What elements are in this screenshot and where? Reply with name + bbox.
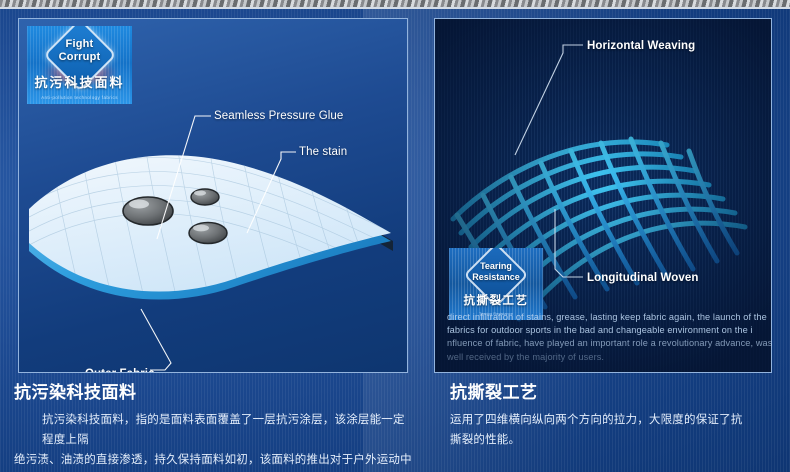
badge-english-subtitle: Anti-pollution technology fabrics xyxy=(27,95,132,100)
footer-right-line-1: 运用了四维横向纵向两个方向的拉力，大限度的保证了抗 xyxy=(450,410,780,430)
fight-corrupt-badge: Fight Corrupt 抗污科技面料 Anti-pollution tech… xyxy=(27,26,132,104)
badge2-line-2: Resistance xyxy=(449,272,543,283)
badge2-diamond-text: Tearing Resistance xyxy=(449,261,543,282)
badge-chinese-title: 抗污科技面料 xyxy=(27,72,132,91)
callout-the-stain: The stain xyxy=(299,145,347,159)
badge-line-1: Fight xyxy=(27,38,132,51)
english-description-paragraph: direct infiltration of stains, grease, l… xyxy=(447,311,783,364)
footer-left-line-1: 抗污染科技面料，指的是面料表面覆盖了一层抗污涂层，该涂层能一定程度上隔 xyxy=(14,410,414,450)
footer-right-line-2: 撕裂的性能。 xyxy=(450,430,780,450)
top-film-strip xyxy=(0,0,790,9)
english-line-3: nfluence of fabric, have played an impor… xyxy=(447,337,783,350)
english-line-1: direct infiltration of stains, grease, l… xyxy=(447,311,783,324)
callout-seamless-pressure-glue: Seamless Pressure Glue xyxy=(214,109,354,123)
footer-right-section: 抗撕裂工艺 运用了四维横向纵向两个方向的拉力，大限度的保证了抗 撕裂的性能。 xyxy=(450,378,780,450)
footer-left-title: 抗污染科技面料 xyxy=(14,378,414,403)
footer-right-title: 抗撕裂工艺 xyxy=(450,378,780,403)
footer-left-line-2: 绝污渍、油渍的直接渗透，持久保持面料如初，该面料的推出对于户外运动中恶劣多 xyxy=(14,450,414,472)
badge-diamond-text: Fight Corrupt xyxy=(27,38,132,63)
anti-stain-panel: Seamless Pressure Glue The stain Outer F… xyxy=(18,18,408,373)
badge-line-2: Corrupt xyxy=(27,51,132,64)
footer-left-section: 抗污染科技面料 抗污染科技面料，指的是面料表面覆盖了一层抗污涂层，该涂层能一定程… xyxy=(14,378,414,472)
badge2-line-1: Tearing xyxy=(449,261,543,272)
footer-right-body: 运用了四维横向纵向两个方向的拉力，大限度的保证了抗 撕裂的性能。 xyxy=(450,410,780,450)
callout-outer-fabric: Outer Fabric xyxy=(85,367,155,373)
callout-longitudinal-woven: Longitudinal Woven xyxy=(587,271,698,285)
badge2-chinese-title: 抗撕裂工艺 xyxy=(449,292,543,308)
english-line-4: well received by the majority of users. xyxy=(447,351,783,364)
callout-horizontal-weaving: Horizontal Weaving xyxy=(587,39,695,53)
english-line-2: fabrics for outdoor sports in the bad an… xyxy=(447,324,783,337)
footer-left-body: 抗污染科技面料，指的是面料表面覆盖了一层抗污涂层，该涂层能一定程度上隔 绝污渍、… xyxy=(14,410,414,472)
tearing-resistance-badge: Tearing Resistance 抗撕裂工艺 Tearing Resista… xyxy=(449,248,543,320)
footer-sections: 抗污染科技面料 抗污染科技面料，指的是面料表面覆盖了一层抗污涂层，该涂层能一定程… xyxy=(0,378,790,472)
